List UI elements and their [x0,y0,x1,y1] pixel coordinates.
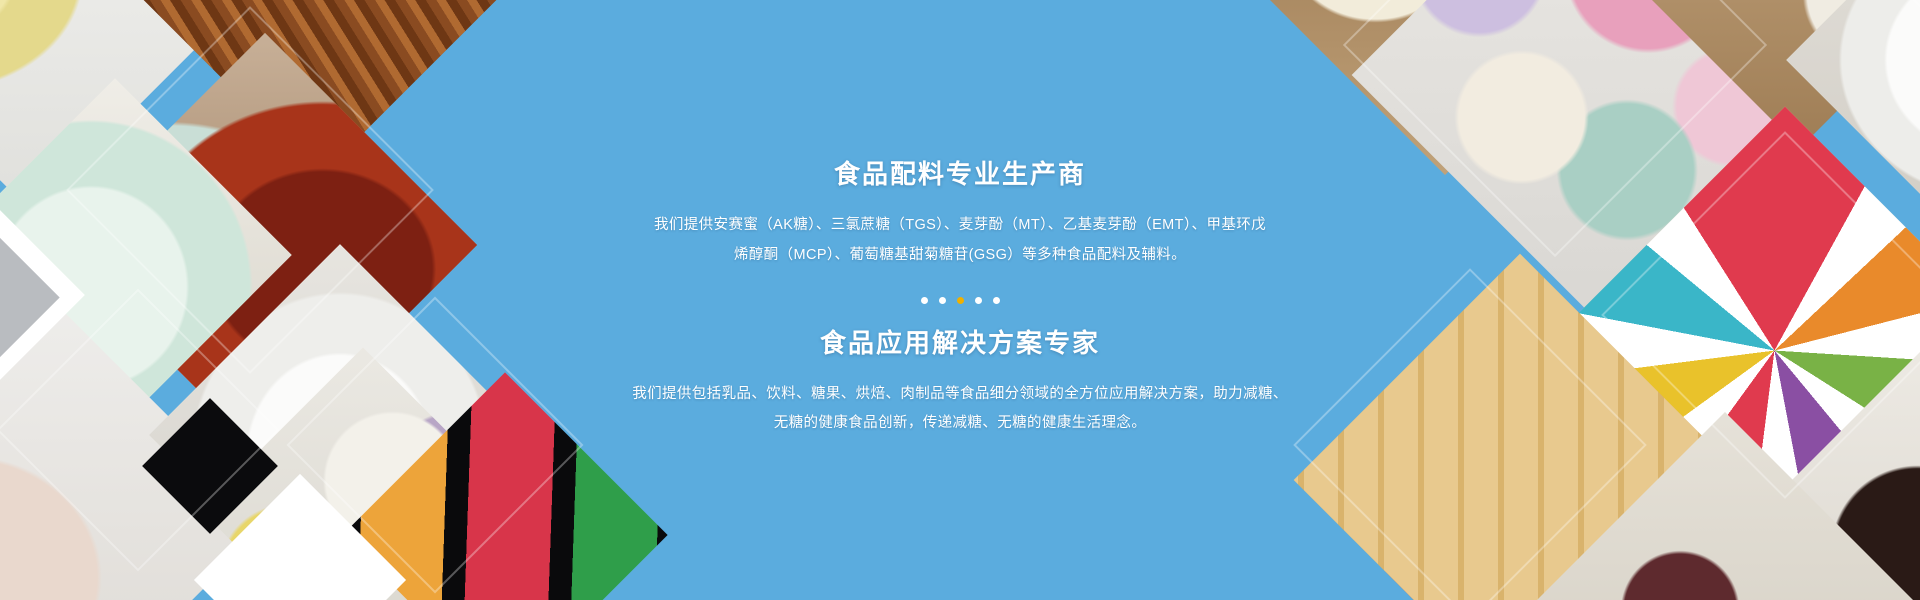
carousel-dot-3-active[interactable] [957,297,964,304]
paragraph-secondary-line-1: 我们提供包括乳品、饮料、糖果、烘焙、肉制品等食品细分领域的全方位应用解决方案，助… [632,380,1288,410]
paragraph-secondary: 我们提供包括乳品、饮料、糖果、烘焙、肉制品等食品细分领域的全方位应用解决方案，助… [632,380,1288,439]
carousel-dot-5[interactable] [993,297,1000,304]
heading-primary: 食品配料专业生产商 [834,161,1086,187]
heading-secondary: 食品应用解决方案专家 [820,330,1100,356]
carousel-dot-4[interactable] [975,297,982,304]
paragraph-primary: 我们提供安赛蜜（AK糖）、三氯蔗糖（TGS）、麦芽酚（MT）、乙基麦芽酚（EMT… [654,211,1266,270]
paragraph-secondary-line-2: 无糖的健康食品创新，传递减糖、无糖的健康生活理念。 [632,409,1288,439]
paragraph-primary-line-1: 我们提供安赛蜜（AK糖）、三氯蔗糖（TGS）、麦芽酚（MT）、乙基麦芽酚（EMT… [654,211,1266,241]
carousel-dot-1[interactable] [921,297,928,304]
banner-content: 食品配料专业生产商 我们提供安赛蜜（AK糖）、三氯蔗糖（TGS）、麦芽酚（MT）… [0,0,1920,600]
carousel-dot-2[interactable] [939,297,946,304]
hero-banner: 食品配料专业生产商 我们提供安赛蜜（AK糖）、三氯蔗糖（TGS）、麦芽酚（MT）… [0,0,1920,600]
paragraph-primary-line-2: 烯醇酮（MCP）、葡萄糖基甜菊糖苷(GSG）等多种食品配料及辅料。 [654,241,1266,271]
carousel-dots[interactable] [921,297,1000,304]
